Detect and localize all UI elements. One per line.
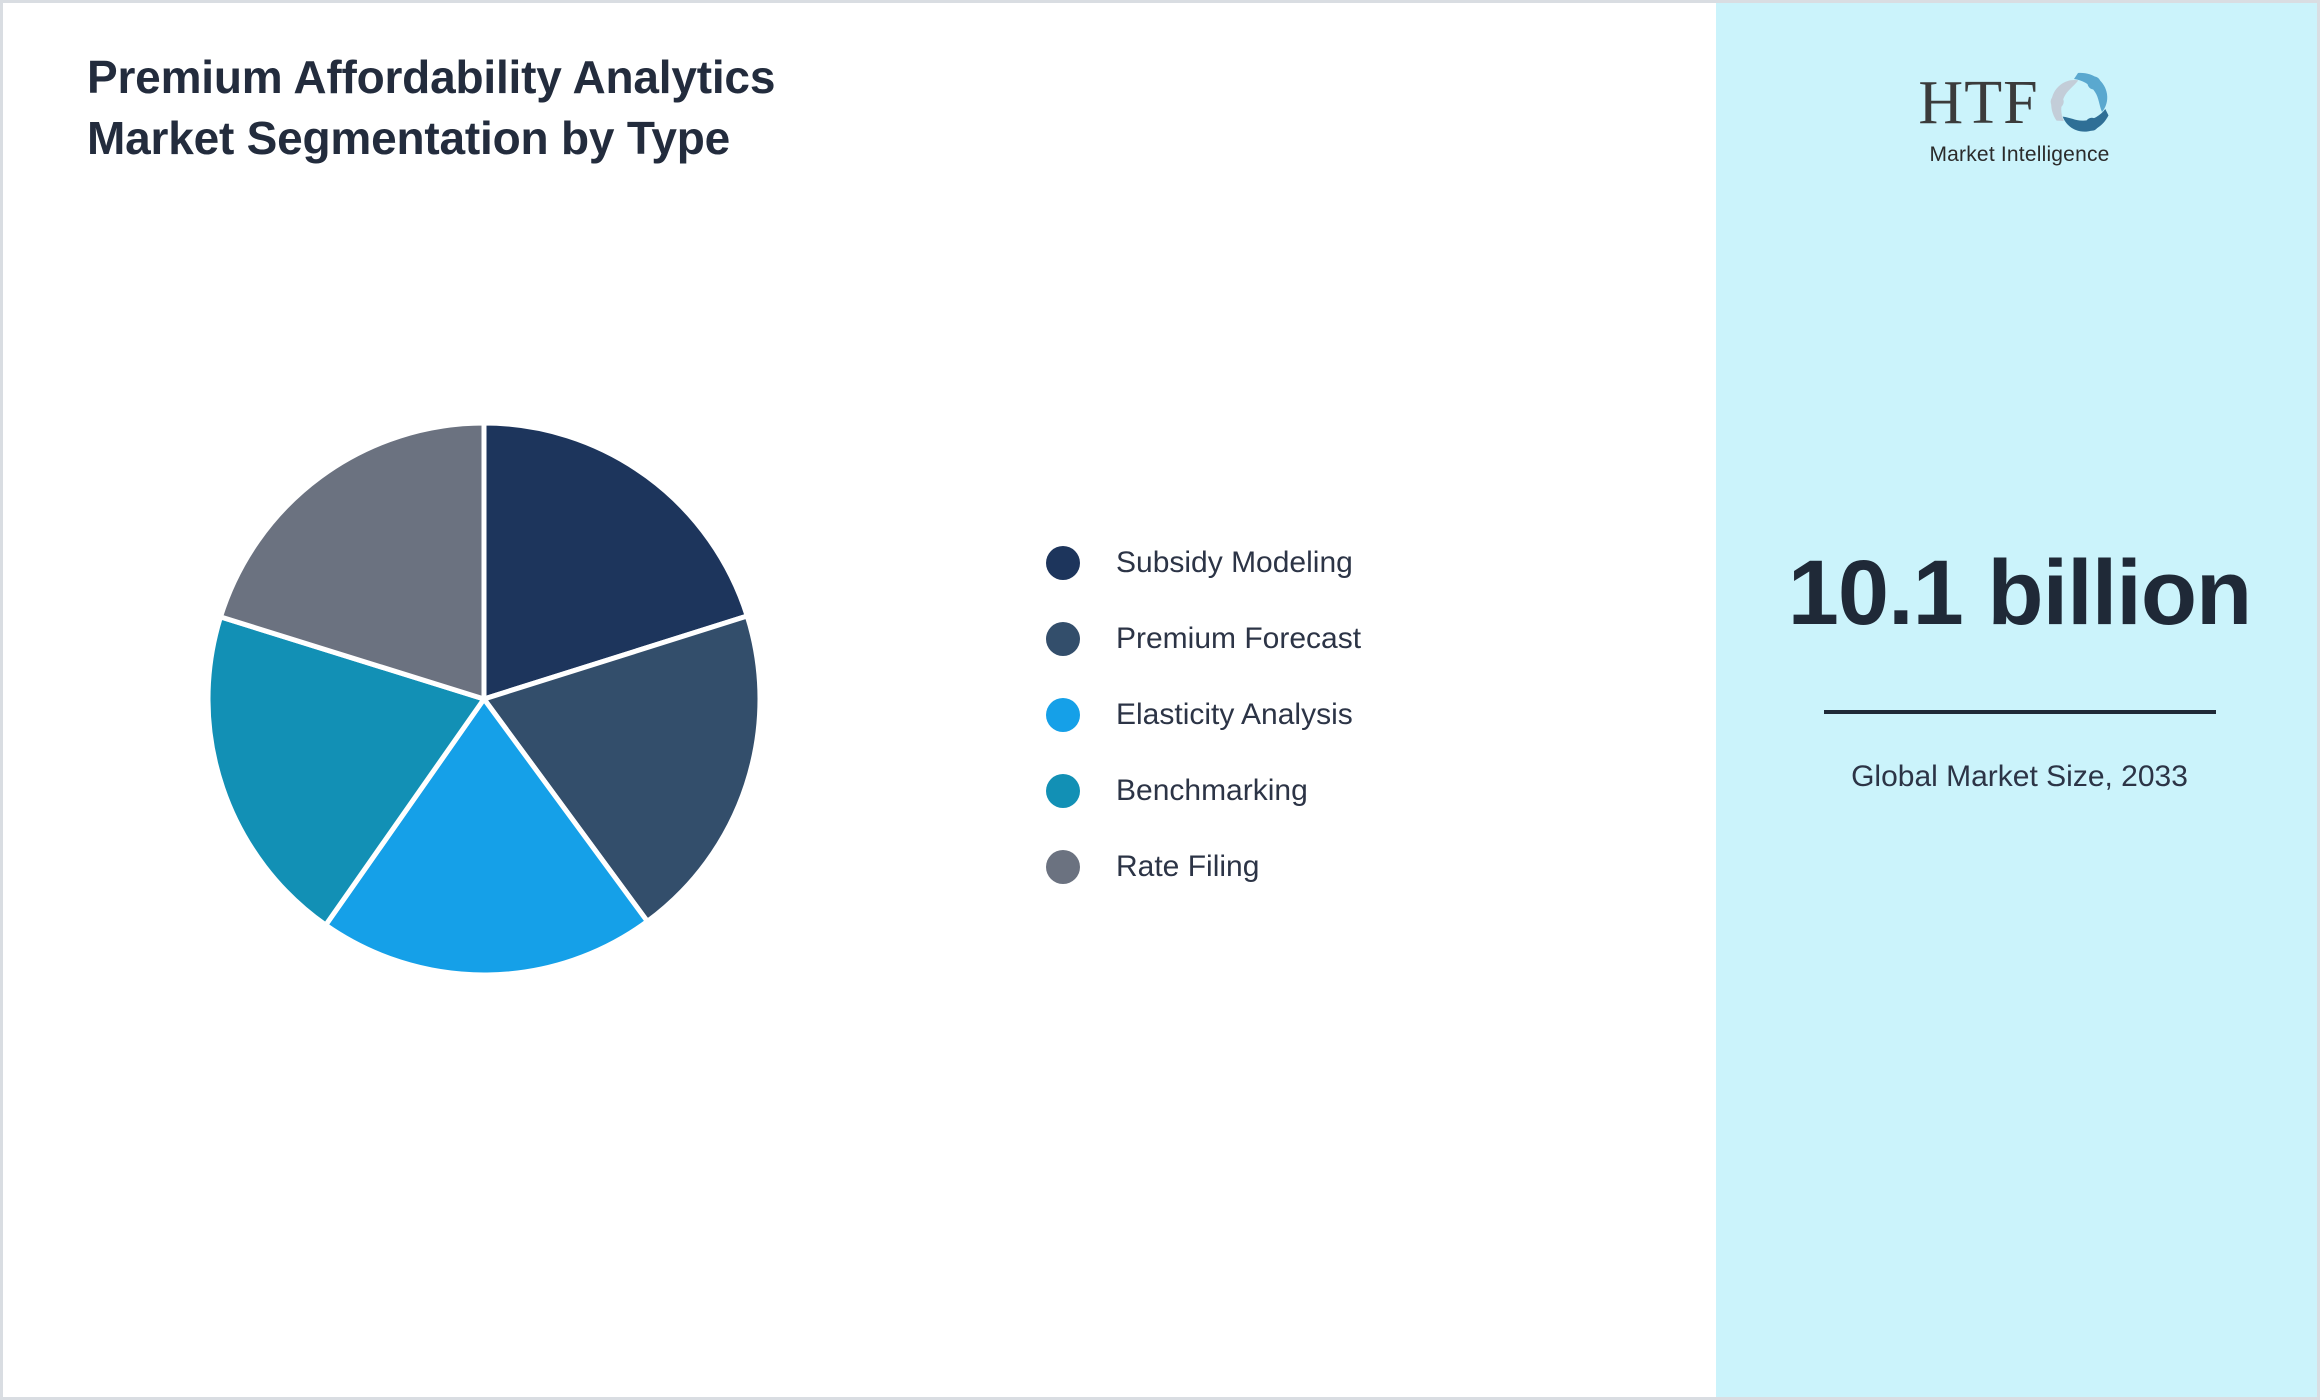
page-title: Premium Affordability Analytics Market S… (87, 47, 1187, 169)
headline-stat: 10.1 billion Global Market Size, 2033 (1716, 543, 2320, 798)
page-title-line-1: Premium Affordability Analytics (87, 47, 1187, 108)
legend-item[interactable]: Premium Forecast (1046, 601, 1566, 677)
legend-item-label: Rate Filing (1116, 850, 1259, 884)
stat-side-panel: HTF (1716, 3, 2320, 1400)
logo-tagline: Market Intelligence (1929, 143, 2109, 167)
legend-item-label: Premium Forecast (1116, 622, 1361, 656)
logo-wordmark: HTF (1918, 74, 2038, 133)
pie-chart (206, 421, 762, 977)
brand-logo: HTF (1716, 65, 2320, 167)
legend-swatch-icon (1046, 622, 1080, 656)
stat-value: 10.1 billion (1716, 543, 2320, 644)
stat-divider (1824, 710, 2216, 714)
logo-mark: HTF (1918, 65, 2120, 141)
legend-item[interactable]: Benchmarking (1046, 753, 1566, 829)
legend-item[interactable]: Rate Filing (1046, 829, 1566, 905)
legend-item[interactable]: Subsidy Modeling (1046, 525, 1566, 601)
pie-chart-svg (206, 421, 762, 977)
infographic-root: Premium Affordability Analytics Market S… (0, 0, 2320, 1400)
page-title-line-2: Market Segmentation by Type (87, 108, 1187, 169)
legend-swatch-icon (1046, 698, 1080, 732)
legend-item-label: Subsidy Modeling (1116, 546, 1353, 580)
legend-item-label: Elasticity Analysis (1116, 698, 1353, 732)
chart-canvas: Premium Affordability Analytics Market S… (3, 3, 1716, 1400)
legend-swatch-icon (1046, 774, 1080, 808)
stat-caption: Global Market Size, 2033 (1716, 756, 2320, 798)
people-circle-icon (2041, 65, 2121, 141)
legend-swatch-icon (1046, 546, 1080, 580)
pie-slice-group (208, 423, 760, 975)
legend-item[interactable]: Elasticity Analysis (1046, 677, 1566, 753)
chart-legend: Subsidy ModelingPremium ForecastElastici… (1046, 525, 1566, 905)
legend-swatch-icon (1046, 850, 1080, 884)
legend-item-label: Benchmarking (1116, 774, 1308, 808)
